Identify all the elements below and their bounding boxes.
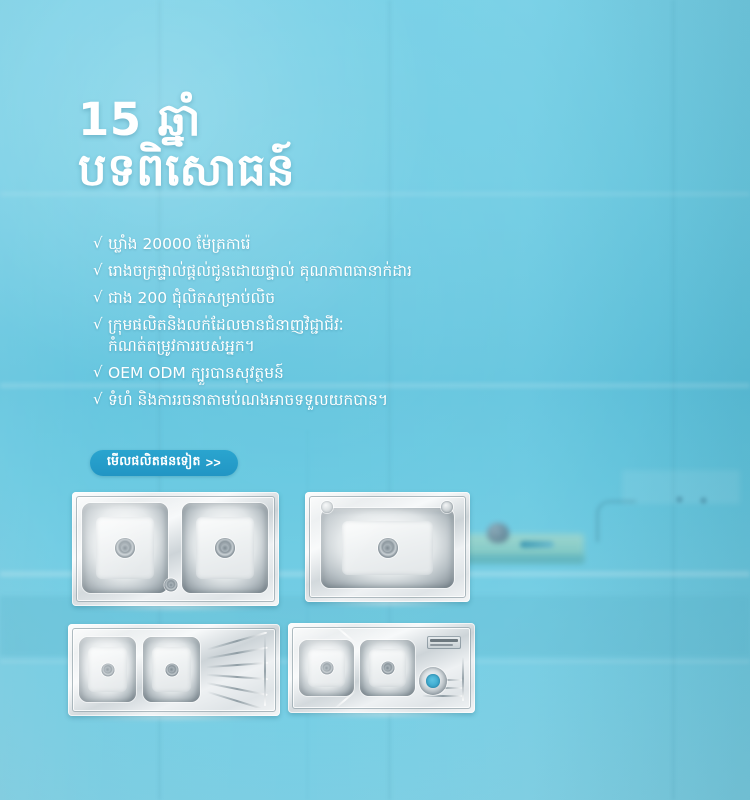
- view-more-products-button[interactable]: មើលផលិតផនទៀត >>: [90, 450, 238, 476]
- disposer-icon: [419, 667, 447, 695]
- dispenser-slot: [430, 639, 458, 642]
- drainboard-rib: [206, 662, 268, 668]
- sink-bowl: [143, 637, 200, 702]
- sink-highlight: [68, 624, 280, 716]
- headline-line-2: បទពិសោធន៍: [78, 146, 295, 194]
- sink-highlight: [72, 492, 279, 606]
- bowl-floor: [196, 517, 255, 578]
- banner-content: 15 ឆ្នាំ បទពិសោធន៍ √ ឃ្លាំង 20000 ម៉ែត្រ…: [0, 0, 750, 800]
- drain-icon: [320, 662, 333, 675]
- sink-highlight: [288, 623, 475, 713]
- bowl-floor: [88, 647, 127, 691]
- check-icon: √: [93, 315, 108, 335]
- list-item-label: ជាង 200 ជុំលិតសម្រាប់លិច: [108, 288, 623, 308]
- feature-list: √ ឃ្លាំង 20000 ម៉ែត្រការ៉េ √ រោងចក្រផ្ទា…: [93, 234, 623, 417]
- drain-icon: [101, 663, 114, 676]
- headline-line-1: 15 ឆ្នាំ: [78, 96, 295, 144]
- sink-bowl: [182, 503, 268, 593]
- sink-drainboard: [418, 631, 468, 705]
- sink-body: [68, 624, 280, 716]
- product-image-single-bowl-sink[interactable]: [305, 492, 470, 602]
- product-image-double-bowl-sink-with-disposer-drainboard[interactable]: [288, 623, 475, 713]
- list-item-label: ទំហំ និងការរចនាតាមប់ណងអាចទទួលយកបាន។: [108, 390, 623, 410]
- sink-reflection: [315, 599, 460, 607]
- sink-bowl: [79, 637, 136, 702]
- product-gallery: [0, 492, 750, 737]
- disposer-cap: [426, 674, 439, 687]
- drain-icon: [378, 538, 398, 558]
- bowl-floor: [96, 517, 155, 578]
- faucet-hole-icon: [441, 501, 453, 513]
- x-highlight-line: [333, 690, 357, 711]
- x-highlight-line: [333, 624, 357, 645]
- check-icon: √: [93, 261, 108, 281]
- bowl-floor: [308, 649, 345, 687]
- view-more-products-label: មើលផលិតផនទៀត: [107, 454, 201, 472]
- check-icon: √: [93, 288, 108, 308]
- sink-reflection: [299, 710, 464, 718]
- check-icon: √: [93, 363, 108, 383]
- drainboard-rib: [462, 657, 464, 701]
- bowl-floor: [342, 521, 432, 575]
- list-item: √ ជាង 200 ជុំលិតសម្រាប់លិច: [93, 288, 623, 308]
- sink-bowl: [82, 503, 168, 593]
- sink-bowl: [299, 640, 354, 696]
- sink-highlight: [305, 492, 470, 602]
- drainboard-rib: [206, 674, 268, 680]
- drainboard-rib: [206, 647, 267, 660]
- product-image-double-bowl-sink[interactable]: [72, 492, 279, 606]
- list-item: √ ឃ្លាំង 20000 ម៉ែត្រការ៉េ: [93, 234, 623, 254]
- sink-reflection: [81, 713, 268, 721]
- list-item: √ ក្រុមផលិតនិងលក់ដែលមានជំនាញវិជ្ជាជីវៈ ក…: [93, 315, 623, 355]
- list-item: √ OEM ODM ក្បួរបានសុវត្ថមន៍: [93, 363, 623, 383]
- overflow-hole-icon: [165, 579, 178, 592]
- sink-body: [288, 623, 475, 713]
- drainboard-rib: [422, 695, 464, 697]
- drainboard-rib: [207, 691, 267, 708]
- bowl-floor: [369, 649, 406, 687]
- check-icon: √: [93, 234, 108, 254]
- faucet-hole-icon: [321, 501, 333, 513]
- list-item-label: OEM ODM ក្បួរបានសុវត្ថមន៍: [108, 363, 623, 383]
- sink-bowl: [360, 640, 415, 696]
- sink-x-highlight: [288, 623, 475, 713]
- sink-bowl: [321, 508, 454, 588]
- drain-icon: [115, 538, 135, 558]
- drainboard-rib: [206, 682, 267, 696]
- sink-reflection: [84, 603, 266, 611]
- double-chevron-right-icon: >>: [206, 456, 221, 470]
- list-item-label: ក្រុមផលិតនិងលក់ដែលមានជំនាញវិជ្ជាជីវៈ កំណ…: [108, 315, 623, 355]
- list-item: √ រោងចក្រផ្ទាល់ផ្តល់ជូនដោយផ្ទាល់ គុណភាពធ…: [93, 261, 623, 281]
- bowl-floor: [152, 647, 191, 691]
- list-item: √ ទំហំ និងការរចនាតាមប់ណងអាចទទួលយកបាន។: [93, 390, 623, 410]
- drain-icon: [165, 663, 178, 676]
- list-item-label: ឃ្លាំង 20000 ម៉ែត្រការ៉េ: [108, 234, 623, 254]
- dispenser-slot: [430, 644, 453, 646]
- page-title: 15 ឆ្នាំ បទពិសោធន៍: [78, 96, 295, 193]
- promo-banner: 15 ឆ្នាំ បទពិសោធន៍ √ ឃ្លាំង 20000 ម៉ែត្រ…: [0, 0, 750, 800]
- drainboard-rib: [422, 679, 464, 681]
- product-image-double-bowl-sink-with-drainboard[interactable]: [68, 624, 280, 716]
- sink-body: [305, 492, 470, 602]
- soap-dispenser-icon: [427, 636, 461, 649]
- drain-icon: [381, 662, 394, 675]
- drain-icon: [215, 538, 235, 558]
- check-icon: √: [93, 390, 108, 410]
- drainboard-rib: [264, 636, 266, 706]
- drainboard-rib: [422, 687, 464, 689]
- drainboard-rib: [207, 632, 267, 651]
- list-item-label: រោងចក្រផ្ទាល់ផ្តល់ជូនដោយផ្ទាល់ គុណភាពធាន…: [108, 261, 623, 281]
- sink-body: [72, 492, 279, 606]
- sink-drainboard: [204, 632, 272, 708]
